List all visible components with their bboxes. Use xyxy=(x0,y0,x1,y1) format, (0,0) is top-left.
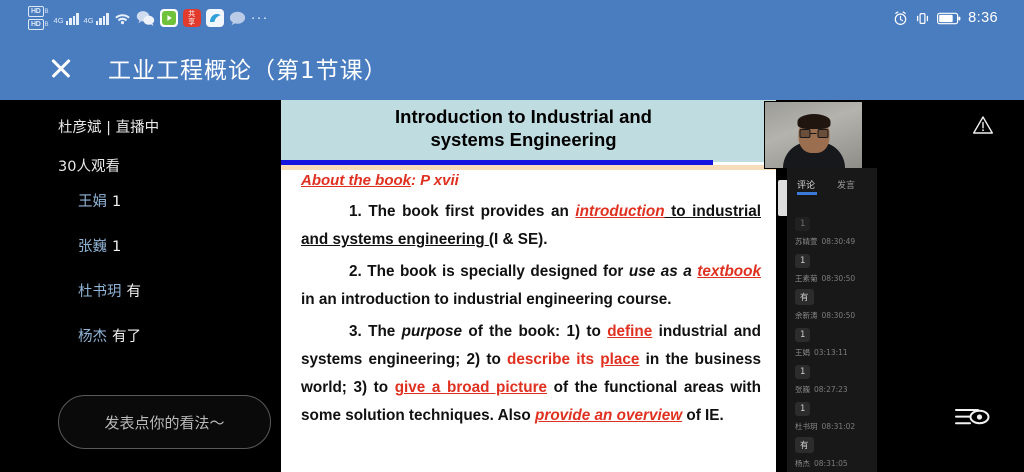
signal-bars-icon-1 xyxy=(66,12,79,25)
signal-group-1: 4G xyxy=(54,12,79,25)
list-item: 杨杰有了 xyxy=(78,325,278,346)
presenter-hair xyxy=(797,114,830,129)
slide-header: Introduction to Industrial and systems E… xyxy=(281,100,776,162)
list-item: 张巍08:27:23 1 xyxy=(795,384,877,416)
comment-meta: 杜书玥08:31:02 xyxy=(795,421,877,432)
comment-meta: 余新涛08:30:50 xyxy=(795,310,877,321)
hd-badges: HD B HD B xyxy=(28,6,49,30)
app-title-bar: 工业工程概论（第1节课） xyxy=(0,36,1024,100)
chat-message-text: 1 xyxy=(112,194,121,210)
comment-text: 1 xyxy=(795,217,810,231)
status-bar-clock: 8:36 xyxy=(968,10,998,26)
run-text: use as a xyxy=(629,263,697,280)
hd-sub-1: B xyxy=(45,9,49,15)
host-status-line: 杜彦斌 | 直播中 xyxy=(58,116,159,137)
comment-drawer: 评论 发言 1 苏婧萱08:30:49 1 xyxy=(787,168,877,472)
signal-group-2: 4G xyxy=(84,12,109,25)
run-text: introduction xyxy=(575,203,664,220)
list-item: 张巍1 xyxy=(78,235,278,256)
comment-sender: 王娟 xyxy=(795,348,810,357)
comment-time: 08:31:02 xyxy=(822,422,856,431)
comment-input[interactable]: 发表点你的看法～ xyxy=(58,395,271,449)
comment-time: 08:30:50 xyxy=(822,274,856,283)
hd-badge-1: HD B xyxy=(28,6,49,17)
run-text: 3. The xyxy=(349,323,402,340)
presenter-glasses xyxy=(799,129,828,138)
slide-title-line2: systems Engineering xyxy=(430,129,616,150)
slide-title-line1: Introduction to Industrial and xyxy=(395,106,652,127)
list-item: 杜书玥有 xyxy=(78,280,278,301)
list-item: 杜书玥08:31:02 有 xyxy=(795,421,877,453)
comment-sender: 杜书玥 xyxy=(795,422,818,431)
sim2-network-label: 4G xyxy=(84,16,94,25)
run-text: give a broad picture xyxy=(395,379,547,396)
run-text: define xyxy=(607,323,652,340)
list-item: 杨杰08:31:05 有了 xyxy=(795,458,877,472)
comment-meta: 苏婧萱08:30:49 xyxy=(795,236,877,247)
comment-text: 1 xyxy=(795,402,810,416)
comment-meta: 王娟03:13:11 xyxy=(795,347,877,358)
run-text: of the book: 1) to xyxy=(462,323,607,340)
chat-message-list: 王娟1 张巍1 杜书玥有 杨杰有了 xyxy=(78,190,278,370)
stage: 杜彦斌 | 直播中 30人观看 王娟1 张巍1 杜书玥有 杨杰有了 发表点你的看… xyxy=(0,100,1024,472)
android-status-bar: HD B HD B 4G 4G xyxy=(0,0,1024,36)
comment-text: 1 xyxy=(795,328,810,342)
comment-text: 1 xyxy=(795,254,810,268)
run-text: (I & SE). xyxy=(489,231,548,248)
comment-sender: 杨杰 xyxy=(795,459,810,468)
wechat-icon xyxy=(136,10,155,26)
signal-bars-icon-2 xyxy=(96,12,109,25)
close-icon[interactable] xyxy=(48,55,74,81)
chat-message-text: 有 xyxy=(127,284,142,300)
hd-label-1: HD xyxy=(28,6,44,17)
hd-label-2: HD xyxy=(28,19,44,30)
comment-input-placeholder: 发表点你的看法～ xyxy=(104,412,224,433)
hd-badge-2: HD B xyxy=(28,19,49,30)
active-tab-underline xyxy=(797,192,817,195)
presenter-video[interactable] xyxy=(764,101,863,169)
vibrate-icon xyxy=(915,11,930,26)
list-item: 1 xyxy=(795,201,877,231)
sim1-network-label: 4G xyxy=(54,16,64,25)
run-text: describe its xyxy=(507,351,600,368)
viewer-count-line: 30人观看 xyxy=(58,155,120,176)
run-text: in an introduction to industrial enginee… xyxy=(301,291,672,308)
about-label: About the book xyxy=(301,172,411,189)
status-bar-left-icons: HD B HD B 4G 4G xyxy=(0,6,269,30)
drawer-comment-list: 1 苏婧萱08:30:49 1 王素菊08:30:50 有 余新涛08 xyxy=(787,191,877,472)
run-text: place xyxy=(600,351,639,368)
comment-sender: 余新涛 xyxy=(795,311,818,320)
comment-text: 有 xyxy=(795,289,814,305)
comment-sender: 苏婧萱 xyxy=(795,237,818,246)
comment-meta xyxy=(795,201,877,210)
live-class-screen: HD B HD B 4G 4G xyxy=(0,0,1024,472)
run-text: of IE. xyxy=(682,407,724,424)
slide-paragraph-1: 1. The book first provides an introducti… xyxy=(301,198,761,254)
comment-meta: 杨杰08:31:05 xyxy=(795,458,877,469)
chat-sender-name: 张巍 xyxy=(78,239,107,255)
chat-message-text: 1 xyxy=(112,239,121,255)
comment-time: 08:30:50 xyxy=(822,311,856,320)
presentation-slide[interactable]: Introduction to Industrial and systems E… xyxy=(281,100,776,472)
comment-time: 08:31:05 xyxy=(814,459,848,468)
chat-sender-name: 王娟 xyxy=(78,194,107,210)
comment-text: 1 xyxy=(795,365,810,379)
run-text: provide an overview xyxy=(535,407,682,424)
comment-time: 08:30:49 xyxy=(822,237,856,246)
list-item: 余新涛08:30:50 1 xyxy=(795,310,877,342)
cloud-app-icon xyxy=(206,9,224,27)
more-dots-icon: ··· xyxy=(251,13,269,23)
list-item: 苏婧萱08:30:49 1 xyxy=(795,236,877,268)
chat-sender-name: 杜书玥 xyxy=(78,284,122,300)
left-chat-panel: 杜彦斌 | 直播中 30人观看 王娟1 张巍1 杜书玥有 杨杰有了 发表点你的看… xyxy=(0,100,281,472)
comment-meta: 张巍08:27:23 xyxy=(795,384,877,395)
slide-paragraph-2: 2. The book is specially designed for us… xyxy=(301,258,761,314)
slide-title: Introduction to Industrial and systems E… xyxy=(281,105,776,151)
comment-time: 03:13:11 xyxy=(814,348,848,357)
about-rest: : P xvii xyxy=(411,172,459,189)
status-bar-right-icons: 8:36 xyxy=(893,10,1024,26)
tab-speak[interactable]: 发言 xyxy=(837,178,855,191)
comment-meta: 王素菊08:30:50 xyxy=(795,273,877,284)
run-text: purpose xyxy=(402,323,462,340)
slide-paragraph-3: 3. The purpose of the book: 1) to define… xyxy=(301,318,761,430)
tab-comments[interactable]: 评论 xyxy=(797,178,815,191)
run-text: 2. The book is specially designed for xyxy=(349,263,629,280)
comment-sender: 王素菊 xyxy=(795,274,818,283)
wifi-icon xyxy=(114,11,131,25)
red-app-icon: 共享 xyxy=(183,9,201,27)
comment-sender: 张巍 xyxy=(795,385,810,394)
hd-sub-2: B xyxy=(45,22,49,28)
battery-icon xyxy=(937,12,961,25)
slide-about-heading: About the book: P xvii xyxy=(301,172,761,189)
alarm-clock-icon xyxy=(893,11,908,26)
drawer-tab-bar: 评论 发言 xyxy=(787,168,877,191)
comment-visibility-eye-icon[interactable] xyxy=(953,405,995,429)
comment-time: 08:27:23 xyxy=(814,385,848,394)
comment-text: 有 xyxy=(795,437,814,453)
warning-triangle-icon[interactable] xyxy=(972,115,994,135)
video-player-icon xyxy=(160,9,178,27)
run-text: 1. The book first provides an xyxy=(349,203,575,220)
chat-message-text: 有了 xyxy=(112,329,141,345)
list-item: 王娟1 xyxy=(78,190,278,211)
list-item: 王娟03:13:11 1 xyxy=(795,347,877,379)
chat-sender-name: 杨杰 xyxy=(78,329,107,345)
page-title: 工业工程概论（第1节课） xyxy=(108,51,388,85)
slide-body: About the book: P xvii 1. The book first… xyxy=(281,162,776,430)
list-item: 王素菊08:30:50 有 xyxy=(795,273,877,305)
message-bubble-icon xyxy=(229,11,246,26)
run-text: textbook xyxy=(697,263,761,280)
